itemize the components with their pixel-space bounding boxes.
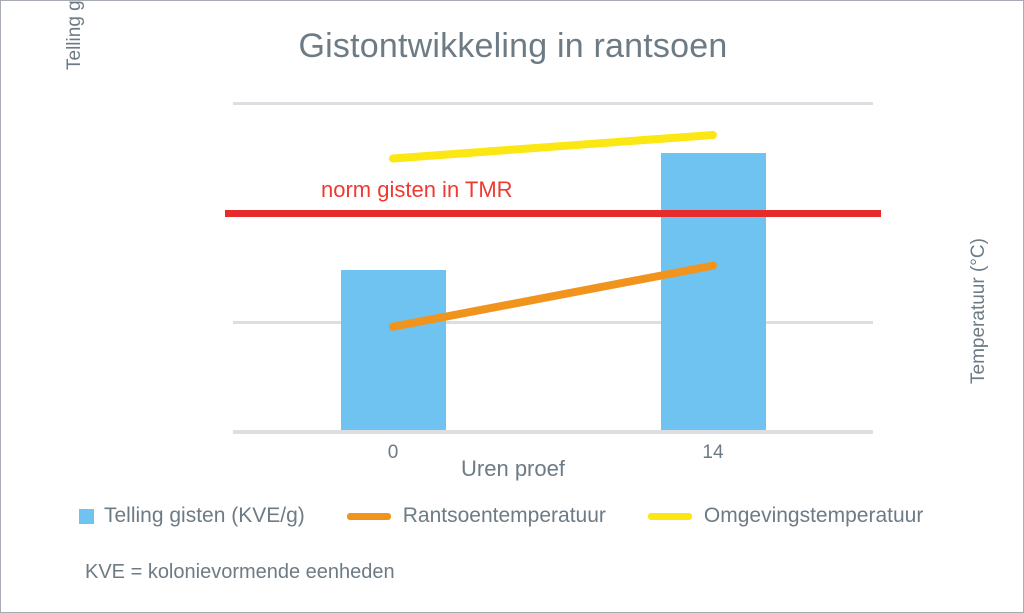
bar xyxy=(341,270,446,432)
legend-item[interactable]: Rantsoentemperatuur xyxy=(347,504,606,528)
line-series-group xyxy=(233,103,873,432)
footnote: KVE = kolonievormende eenheden xyxy=(85,561,395,584)
legend-item-label: Omgevingstemperatuur xyxy=(704,504,923,528)
chart-legend: Telling gisten (KVE/g)Rantsoentemperatuu… xyxy=(79,504,923,528)
norm-threshold-label: norm gisten in TMR xyxy=(321,177,513,203)
y-axis-right-title: Temperatuur (°C) xyxy=(959,181,999,441)
legend-item[interactable]: Omgevingstemperatuur xyxy=(648,504,923,528)
x-axis-title: Uren proef xyxy=(1,456,1024,482)
chart-figure: Gistontwikkeling in rantsoen Telling gis… xyxy=(0,0,1024,613)
gridline xyxy=(233,321,873,324)
legend-item-label: Rantsoentemperatuur xyxy=(403,504,606,528)
gridline xyxy=(233,102,873,105)
legend-square-swatch-icon xyxy=(79,509,94,524)
plot-area: 10.000100.0001.000.00010.000.000 0510152… xyxy=(233,103,873,432)
chart-title: Gistontwikkeling in rantsoen xyxy=(1,27,1024,66)
legend-item[interactable]: Telling gisten (KVE/g) xyxy=(79,504,305,528)
legend-item-label: Telling gisten (KVE/g) xyxy=(104,504,305,528)
legend-line-swatch-icon xyxy=(648,513,692,520)
bar xyxy=(661,153,766,432)
norm-threshold-line xyxy=(225,210,881,217)
legend-line-swatch-icon xyxy=(347,513,391,520)
y-axis-left-title: Telling gisten (KVE¹/g) xyxy=(55,0,95,141)
x-axis-baseline xyxy=(233,430,873,433)
